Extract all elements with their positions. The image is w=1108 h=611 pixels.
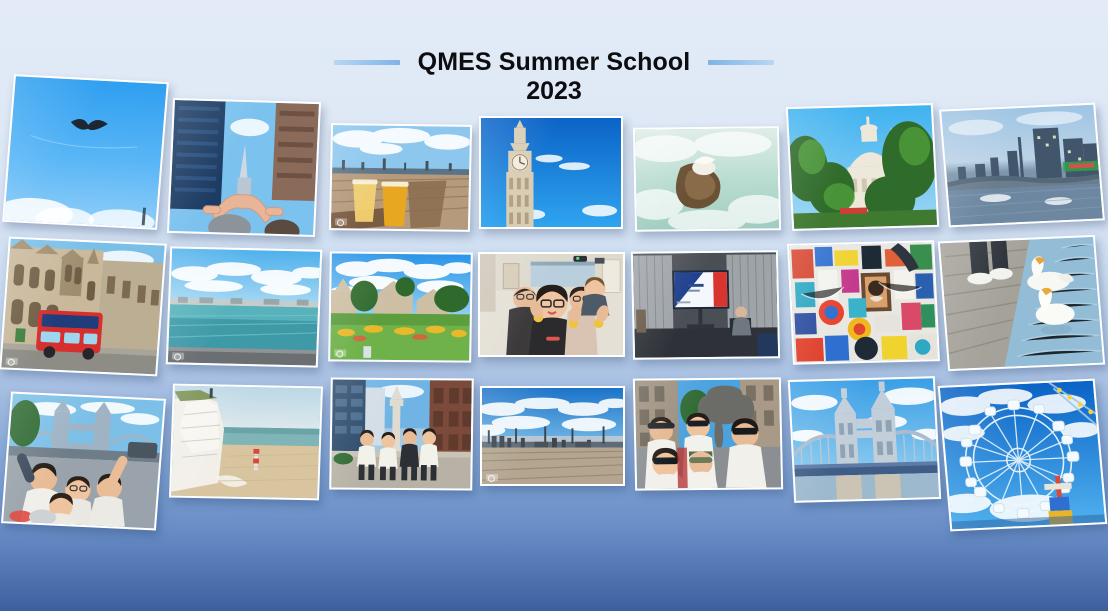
photo-oxford-street-bus <box>1 239 164 375</box>
gallery-photo[interactable] <box>633 126 781 232</box>
photo-swans-by-jetty <box>940 237 1103 369</box>
gallery-photo[interactable] <box>938 235 1105 371</box>
gallery-photo[interactable] <box>631 250 780 360</box>
photo-watermark <box>335 218 347 225</box>
gallery-photo[interactable] <box>329 378 474 491</box>
title-block: QMES Summer School 2023 <box>0 48 1108 106</box>
photo-student-selfie-classroom <box>480 254 623 355</box>
gallery-photo[interactable] <box>938 379 1108 532</box>
photo-watermark <box>486 474 498 481</box>
photo-watermark <box>334 349 346 356</box>
gallery-photo[interactable] <box>939 103 1105 228</box>
photo-st-pauls-cathedral <box>788 105 937 229</box>
photo-lecture-room-qmes-slide <box>633 252 778 357</box>
gallery-photo[interactable] <box>787 240 940 364</box>
photo-boardwalk-pier <box>482 388 623 484</box>
gallery-photo[interactable] <box>478 252 625 357</box>
page-title: QMES Summer School <box>418 48 691 76</box>
photo-group-tower-bridge <box>3 394 164 529</box>
gallery-photo[interactable] <box>329 123 472 232</box>
photo-ferris-wheel <box>940 381 1105 530</box>
gallery-photo[interactable] <box>480 386 625 486</box>
gallery-photo[interactable] <box>0 237 167 377</box>
gallery-photo[interactable] <box>1 392 166 531</box>
gallery-photo[interactable] <box>328 251 473 362</box>
title-rule-right-icon <box>708 60 774 65</box>
photo-big-ben <box>481 118 621 227</box>
photo-group-elephant-statue <box>635 379 781 488</box>
photo-tower-bridge <box>790 378 939 501</box>
gallery-photo[interactable] <box>786 103 939 231</box>
title-rule-left-icon <box>334 60 400 65</box>
photo-coastal-seafront <box>168 248 320 365</box>
photo-white-cliffs-beach <box>171 386 321 499</box>
gallery-photo[interactable] <box>788 376 941 503</box>
presentation-slide: QMES Summer School 2023 <box>0 0 1108 611</box>
photo-watermark <box>172 352 184 359</box>
photo-college-gardens <box>330 253 471 360</box>
title-row: QMES Summer School <box>0 48 1108 76</box>
photo-thames-skyline <box>941 105 1102 226</box>
photo-watermark <box>6 358 19 366</box>
gallery-photo[interactable] <box>167 98 321 237</box>
gallery-photo[interactable] <box>479 116 623 229</box>
photo-students-by-monument <box>331 380 472 489</box>
page-title-year: 2023 <box>0 77 1108 106</box>
photo-heart-hands-skyscraper <box>169 100 319 235</box>
gallery-photo[interactable] <box>166 246 323 367</box>
photo-beer-on-pier <box>331 125 470 230</box>
gallery-photo[interactable] <box>169 384 323 501</box>
photo-sticker-graffiti-wall <box>789 242 938 362</box>
photo-waves-on-rock <box>635 128 779 229</box>
gallery-photo[interactable] <box>633 377 783 490</box>
